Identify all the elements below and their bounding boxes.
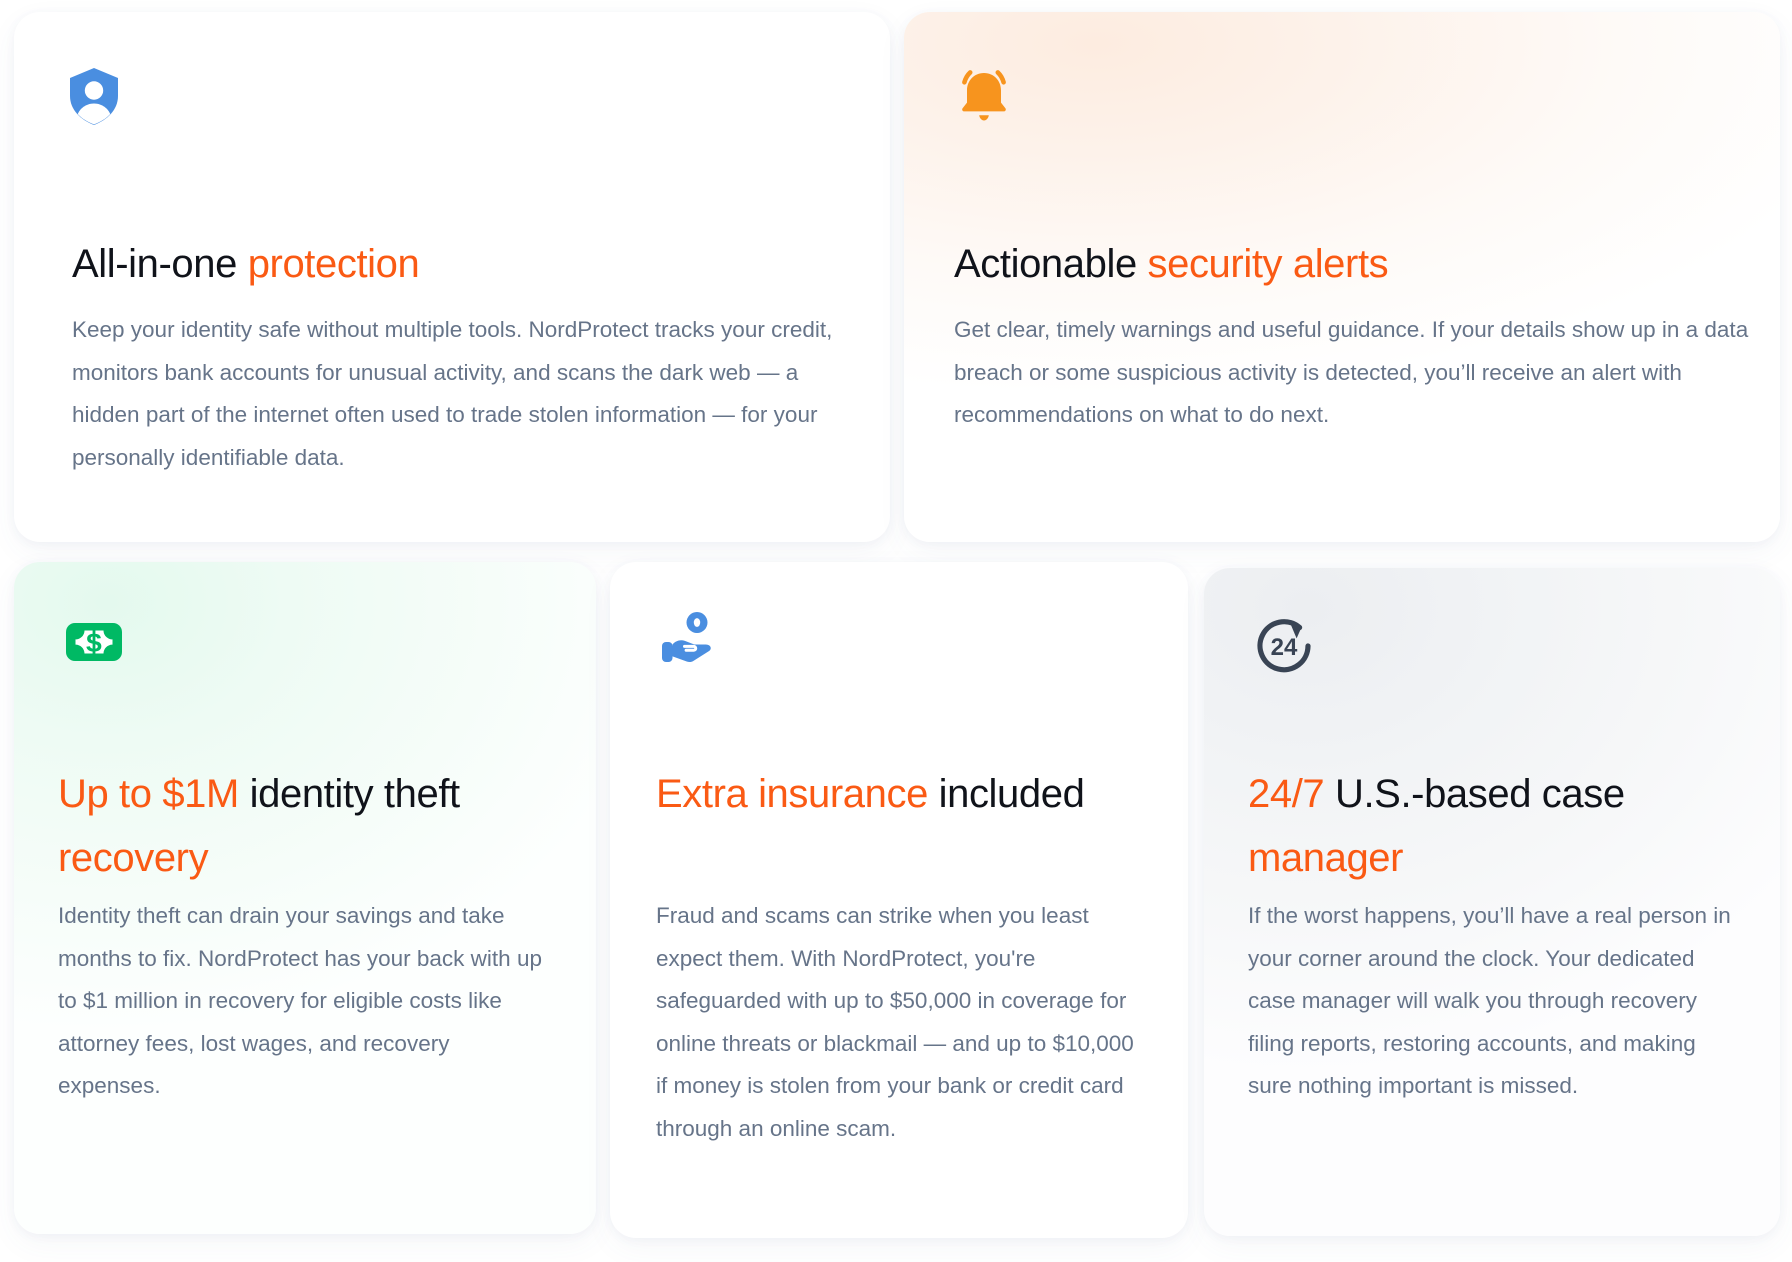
card-body-text: Get clear, timely warnings and useful gu… xyxy=(954,309,1754,437)
banknote-dollar-icon: S xyxy=(58,606,130,678)
feature-card-identity-theft-recovery[interactable]: S Up to $1M identity theft recovery Iden… xyxy=(14,562,596,1234)
feature-cards-grid: All-in-one protection Keep your identity… xyxy=(0,0,1792,1262)
headline-segment-accent: Extra insurance xyxy=(656,772,939,816)
card-body-text: Identity theft can drain your savings an… xyxy=(58,895,550,1108)
headline-segment: All-in-one xyxy=(72,242,248,286)
card-body-text: Fraud and scams can strike when you leas… xyxy=(656,895,1148,1150)
headline-segment: identity theft xyxy=(250,772,460,816)
headline-segment-accent: 24/7 xyxy=(1248,772,1335,816)
card-headline: 24/7 U.S.-based case manager xyxy=(1248,762,1728,890)
hand-holding-coin-icon xyxy=(656,604,728,676)
headline-segment: included xyxy=(939,772,1085,816)
headline-segment-accent-2: recovery xyxy=(58,836,208,880)
headline-segment-accent: Up to $1M xyxy=(58,772,250,816)
feature-card-all-in-one-protection[interactable]: All-in-one protection Keep your identity… xyxy=(14,12,890,542)
24-hour-arrow-icon: 24 xyxy=(1248,608,1320,680)
headline-segment: Actionable xyxy=(954,242,1148,286)
feature-card-actionable-security-alerts[interactable]: Actionable security alerts Get clear, ti… xyxy=(904,12,1780,542)
feature-card-case-manager[interactable]: 24 24/7 U.S.-based case manager If the w… xyxy=(1204,568,1780,1236)
headline-segment-accent-2: manager xyxy=(1248,836,1403,880)
card-headline: Extra insurance included xyxy=(656,762,1136,826)
card-headline: Up to $1M identity theft recovery xyxy=(58,762,528,890)
feature-card-extra-insurance[interactable]: Extra insurance included Fraud and scams… xyxy=(610,562,1188,1238)
headline-segment: U.S.-based case xyxy=(1335,772,1625,816)
card-body-text: Keep your identity safe without multiple… xyxy=(72,309,862,479)
svg-text:24: 24 xyxy=(1271,634,1298,661)
card-headline: Actionable security alerts xyxy=(954,238,1754,290)
card-headline: All-in-one protection xyxy=(72,238,852,290)
bell-alert-icon xyxy=(948,60,1020,132)
shield-person-icon xyxy=(58,60,130,132)
headline-segment-accent: protection xyxy=(248,242,420,286)
card-body-text: If the worst happens, you’ll have a real… xyxy=(1248,895,1740,1108)
headline-segment-accent: security alerts xyxy=(1148,242,1389,286)
